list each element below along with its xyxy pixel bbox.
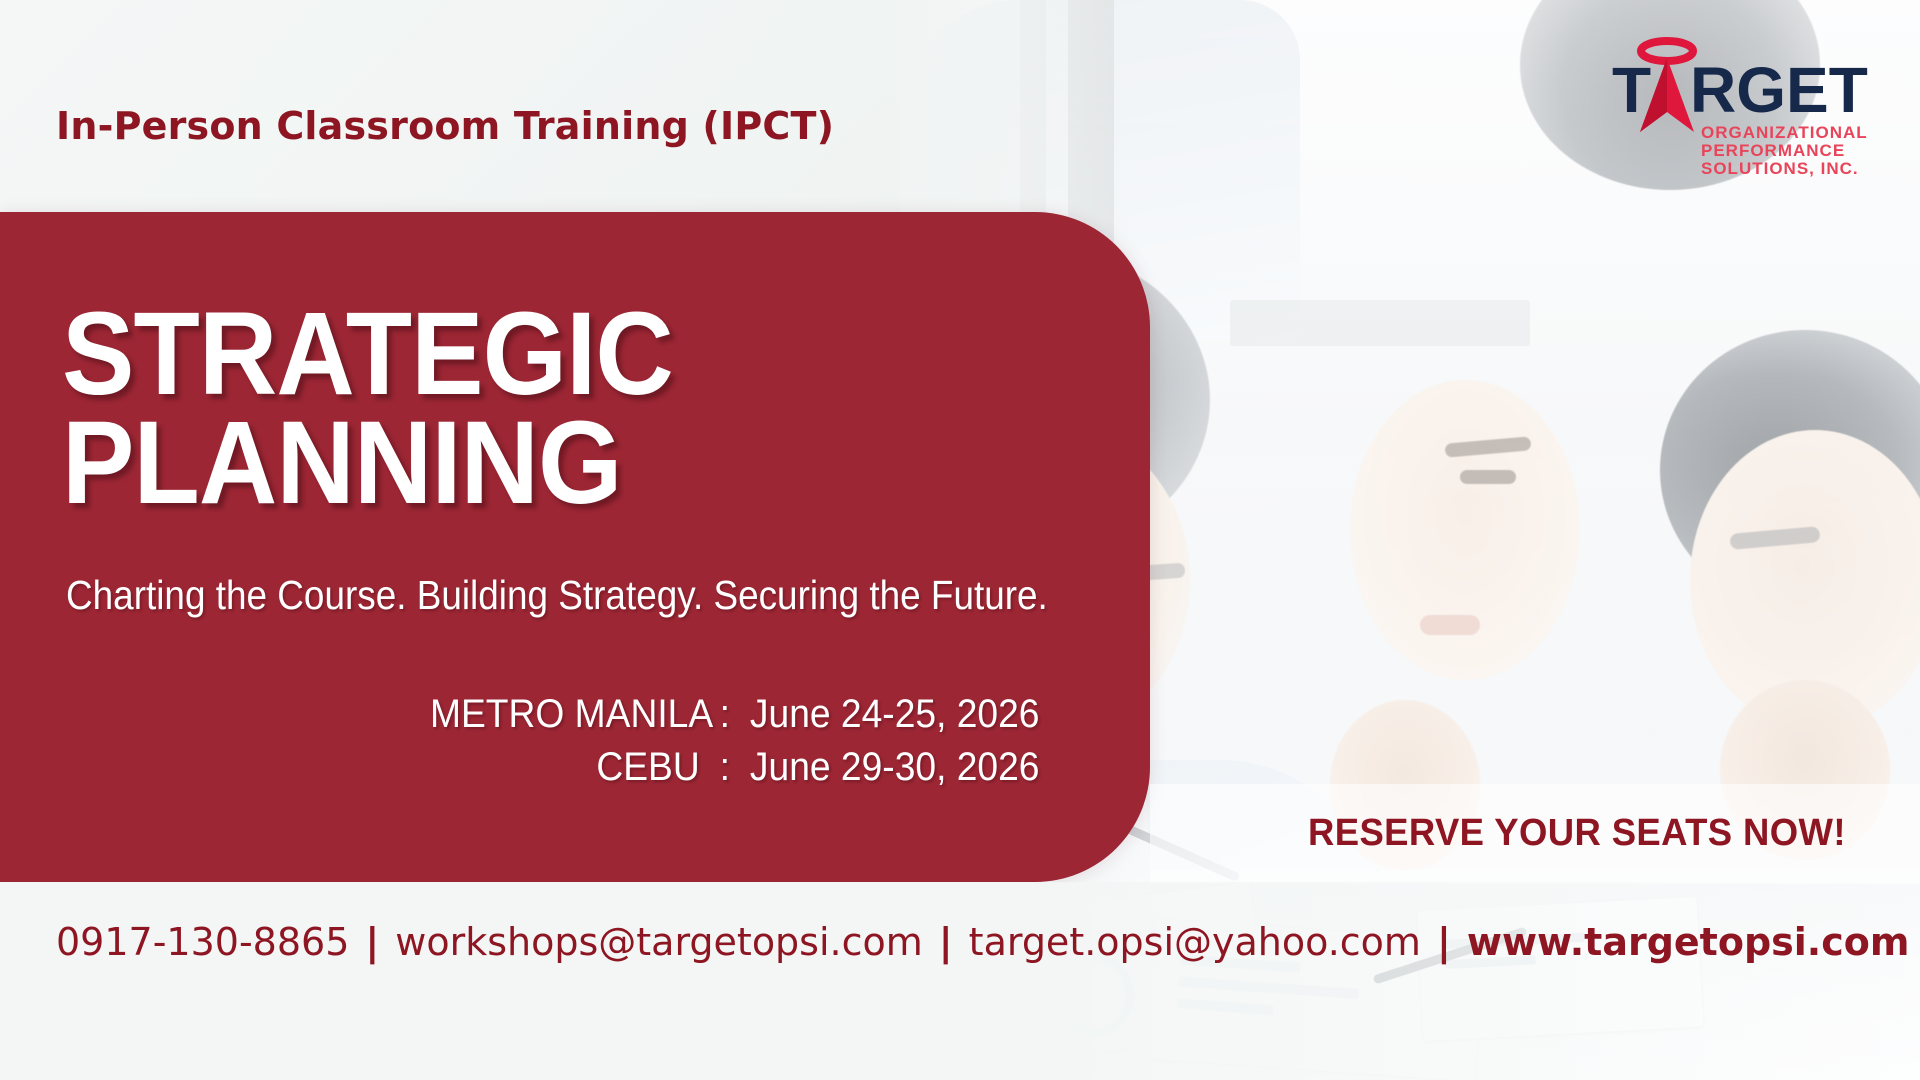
logo-subtitle: ORGANIZATIONAL PERFORMANCE SOLUTIONS, IN… [1701,123,1868,178]
svg-text:ORGANIZATIONAL: ORGANIZATIONAL [1701,123,1868,142]
schedule-row: CEBU : June 29-30, 2026 [430,741,1039,794]
document-sheet [1417,897,1703,1041]
svg-text:PERFORMANCE: PERFORMANCE [1701,141,1845,160]
window-sill [1230,300,1530,346]
person-center-face [1350,380,1580,680]
target-opsi-logo: T RGET ORGANIZATIONAL PERFORMANCE SOLUTI… [1604,28,1872,178]
contact-email-primary[interactable]: workshops@targetopsi.com [395,920,923,964]
person-center-eye [1460,470,1516,484]
training-promo-banner: In-Person Classroom Training (IPCT) T RG… [0,0,1920,1080]
svg-text:T: T [1612,54,1651,126]
page-title: In-Person Classroom Training (IPCT) [56,104,834,148]
course-title-line-2: PLANNING [62,409,673,518]
contact-separator: | [939,920,953,964]
schedule-separator: : [700,688,750,741]
svg-text:SOLUTIONS, INC.: SOLUTIONS, INC. [1701,159,1859,178]
course-title-line-1: STRATEGIC [62,300,673,409]
pie-chart-graphic [1048,952,1134,1038]
svg-text:RGET: RGET [1690,54,1868,126]
schedule-row: METRO MANILA : June 24-25, 2026 [430,688,1039,741]
contact-website[interactable]: www.targetopsi.com [1467,920,1910,964]
schedule-list: METRO MANILA : June 24-25, 2026 CEBU : J… [430,688,1039,794]
schedule-date: June 24-25, 2026 [750,688,1040,741]
schedule-city: CEBU [430,741,700,794]
logo-wordmark: T RGET [1612,54,1868,126]
person-center-lips [1420,615,1480,635]
schedule-separator: : [700,741,750,794]
contact-separator: | [1437,920,1451,964]
reserve-seats-cta[interactable]: RESERVE YOUR SEATS NOW! [1308,812,1846,855]
contact-separator: | [365,920,379,964]
course-tagline: Charting the Course. Building Strategy. … [66,572,1048,619]
contact-email-secondary[interactable]: target.opsi@yahoo.com [969,920,1421,964]
contact-phone[interactable]: 0917-130-8865 [56,920,349,964]
schedule-date: June 29-30, 2026 [750,741,1040,794]
contact-bar: 0917-130-8865 | workshops@targetopsi.com… [56,920,1886,964]
course-title: STRATEGIC PLANNING [62,300,673,517]
schedule-city: METRO MANILA [430,688,700,741]
